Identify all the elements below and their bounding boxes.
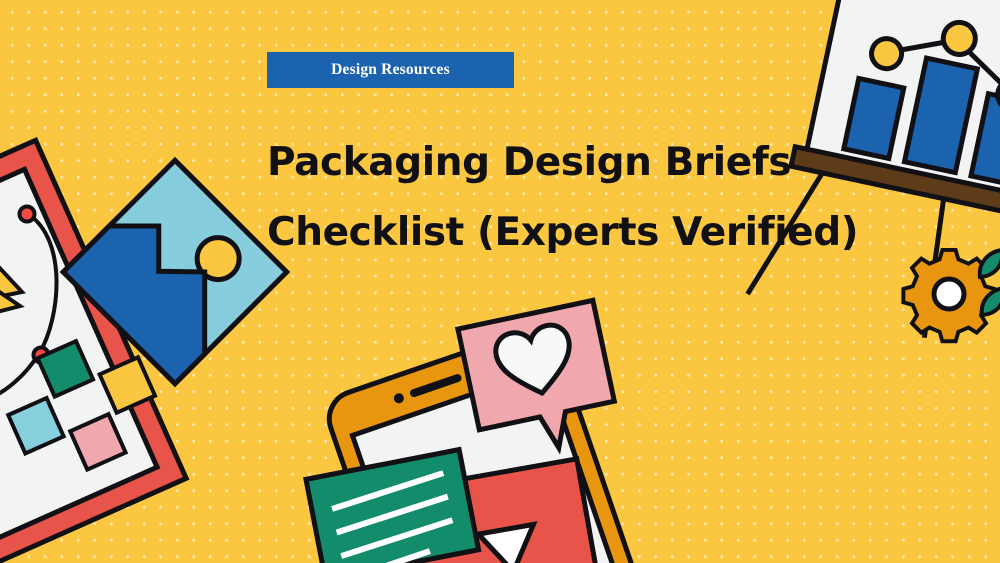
- text-layer: Design Resources Packaging Design Briefs…: [0, 0, 1000, 563]
- category-badge-label: Design Resources: [331, 61, 450, 79]
- category-badge[interactable]: Design Resources: [267, 52, 514, 88]
- page-title-line-2: Checklist (Experts Verified): [267, 198, 967, 268]
- banner-canvas: Design Resources Packaging Design Briefs…: [0, 0, 1000, 563]
- page-title: Packaging Design Briefs Checklist (Exper…: [267, 128, 967, 268]
- page-title-line-1: Packaging Design Briefs: [267, 128, 967, 198]
